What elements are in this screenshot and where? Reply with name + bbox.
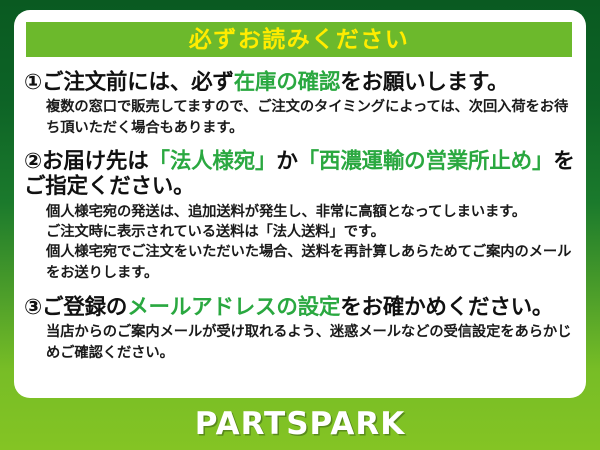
- notice-heading: ②お届け先は「法人様宛」か「西濃運輸の営業所止め」をご指定ください。: [24, 149, 576, 200]
- header-bar: 必ずお読みください: [26, 22, 572, 57]
- list-item: ①ご注文前には、必ず在庫の確認をお願いします。 複数の窓口で販売してますので、ご…: [14, 70, 586, 138]
- heading-text-pre: お届け先は: [42, 149, 149, 173]
- notice-body-line: ご注文時に表示されている送料は「法人送料」です。: [46, 222, 576, 242]
- notice-banner: 必ずお読みください ①ご注文前には、必ず在庫の確認をお願いします。 複数の窓口で…: [0, 0, 600, 450]
- notice-heading: ③ご登録のメールアドレスの設定をお確かめください。: [24, 295, 576, 320]
- heading-text-pre: ご注文前には、必ず: [42, 70, 234, 94]
- notice-body-line: 個人様宅宛の発送は、追加送料が発生し、非常に高額となってしまいます。: [46, 202, 576, 222]
- heading-highlight: 在庫の確認: [234, 70, 341, 94]
- item-marker: ①: [24, 70, 42, 94]
- brand-logo: PARTSPARK: [195, 406, 406, 442]
- item-marker: ②: [24, 149, 42, 173]
- item-marker: ③: [24, 295, 42, 319]
- heading-text-post: をお確かめください。: [340, 295, 553, 319]
- list-item: ②お届け先は「法人様宛」か「西濃運輸の営業所止め」をご指定ください。 個人様宅宛…: [14, 149, 586, 283]
- heading-text-post: をお願いします。: [340, 70, 508, 94]
- heading-highlight: メールアドレスの設定: [127, 295, 340, 319]
- notice-card: 必ずお読みください ①ご注文前には、必ず在庫の確認をお願いします。 複数の窓口で…: [14, 10, 586, 398]
- notice-body: 当店からのご案内メールが受け取れるよう、迷惑メールなどの受信設定をあらかじめご確…: [24, 322, 576, 363]
- heading-highlight: 「法人様宛」: [149, 149, 277, 173]
- notice-list: ①ご注文前には、必ず在庫の確認をお願いします。 複数の窓口で販売してますので、ご…: [14, 66, 586, 363]
- notice-body: 複数の窓口で販売してますので、ご注文のタイミングによっては、次回入荷をお待ち頂い…: [24, 97, 576, 138]
- heading-highlight-2: 「西濃運輸の営業所止め」: [298, 149, 554, 173]
- notice-body: 個人様宅宛の発送は、追加送料が発生し、非常に高額となってしまいます。 ご注文時に…: [24, 202, 576, 283]
- heading-text-mid: か: [276, 149, 297, 173]
- notice-body-line: 個人様宅宛でご注文をいただいた場合、送料を再計算しあらためてご案内のメールをお送…: [46, 242, 576, 283]
- page-title: 必ずお読みください: [189, 28, 410, 51]
- footer-bar: PARTSPARK: [0, 398, 600, 450]
- heading-text-pre: ご登録の: [42, 295, 127, 319]
- notice-heading: ①ご注文前には、必ず在庫の確認をお願いします。: [24, 70, 576, 95]
- list-item: ③ご登録のメールアドレスの設定をお確かめください。 当店からのご案内メールが受け…: [14, 295, 586, 363]
